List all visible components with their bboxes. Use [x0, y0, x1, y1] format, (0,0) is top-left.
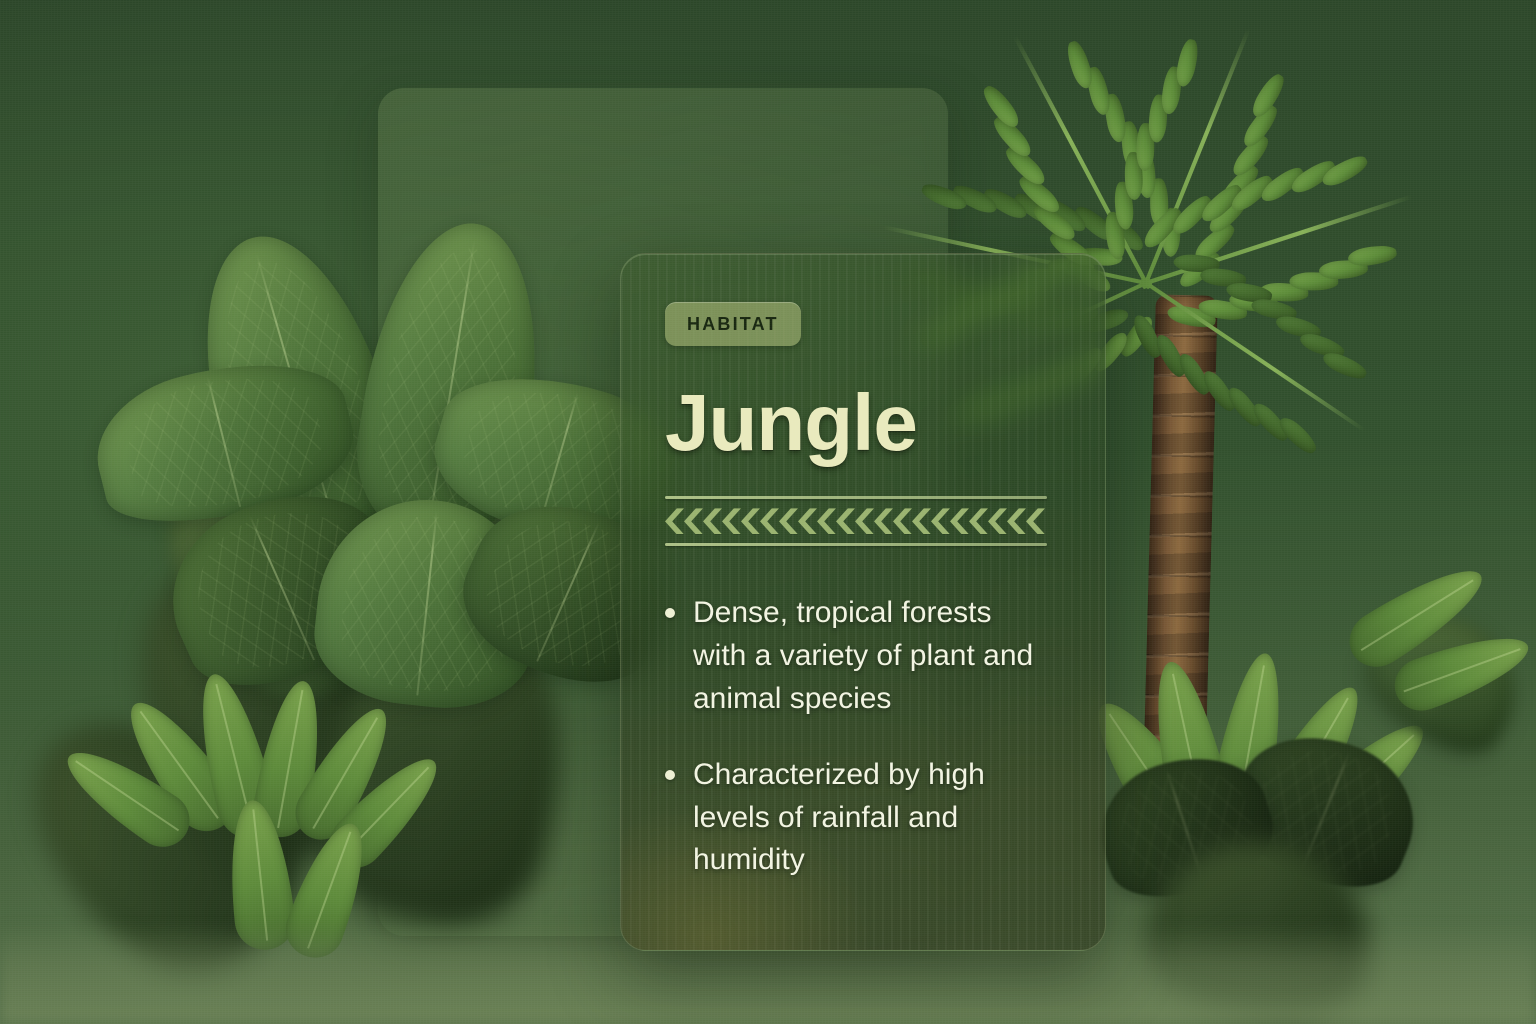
- ornamental-divider: [665, 496, 1047, 546]
- bullet-list: Dense, tropical forests with a variety o…: [665, 592, 1061, 882]
- list-item-text: Characterized by high levels of rainfall…: [693, 754, 1045, 882]
- chevron-left-icon: [665, 508, 684, 534]
- chevron-left-icon: [798, 508, 817, 534]
- chevron-left-icon: [817, 508, 836, 534]
- chevron-left-icon: [779, 508, 798, 534]
- chevron-left-icon: [836, 508, 855, 534]
- chevron-left-icon: [703, 508, 722, 534]
- habitat-card: HABITAT Jungle: [620, 253, 1106, 951]
- bullet-dot-icon: [665, 770, 675, 780]
- chevron-left-icon: [684, 508, 703, 534]
- divider-rule-bottom: [665, 543, 1047, 546]
- divider-rule-top: [665, 496, 1047, 499]
- bullet-dot-icon: [665, 608, 675, 618]
- chevron-left-icon: [893, 508, 912, 534]
- chevron-left-icon: [950, 508, 969, 534]
- chevron-left-icon: [874, 508, 893, 534]
- chevron-left-icon: [969, 508, 988, 534]
- chevron-left-icon: [1026, 508, 1045, 534]
- jungle-scene: HABITAT Jungle: [0, 0, 1536, 1024]
- chevron-left-icon: [931, 508, 950, 534]
- chevron-left-icon: [855, 508, 874, 534]
- card-title: Jungle: [665, 384, 1061, 462]
- chevron-left-icon: [760, 508, 779, 534]
- chevron-left-icon-row: [665, 506, 1047, 536]
- list-item: Dense, tropical forests with a variety o…: [665, 592, 1061, 720]
- habitat-badge: HABITAT: [665, 302, 801, 346]
- chevron-left-icon: [912, 508, 931, 534]
- chevron-left-icon: [741, 508, 760, 534]
- chevron-left-icon: [722, 508, 741, 534]
- chevron-left-icon: [988, 508, 1007, 534]
- list-item-text: Dense, tropical forests with a variety o…: [693, 592, 1045, 720]
- chevron-left-icon: [1007, 508, 1026, 534]
- list-item: Characterized by high levels of rainfall…: [665, 754, 1061, 882]
